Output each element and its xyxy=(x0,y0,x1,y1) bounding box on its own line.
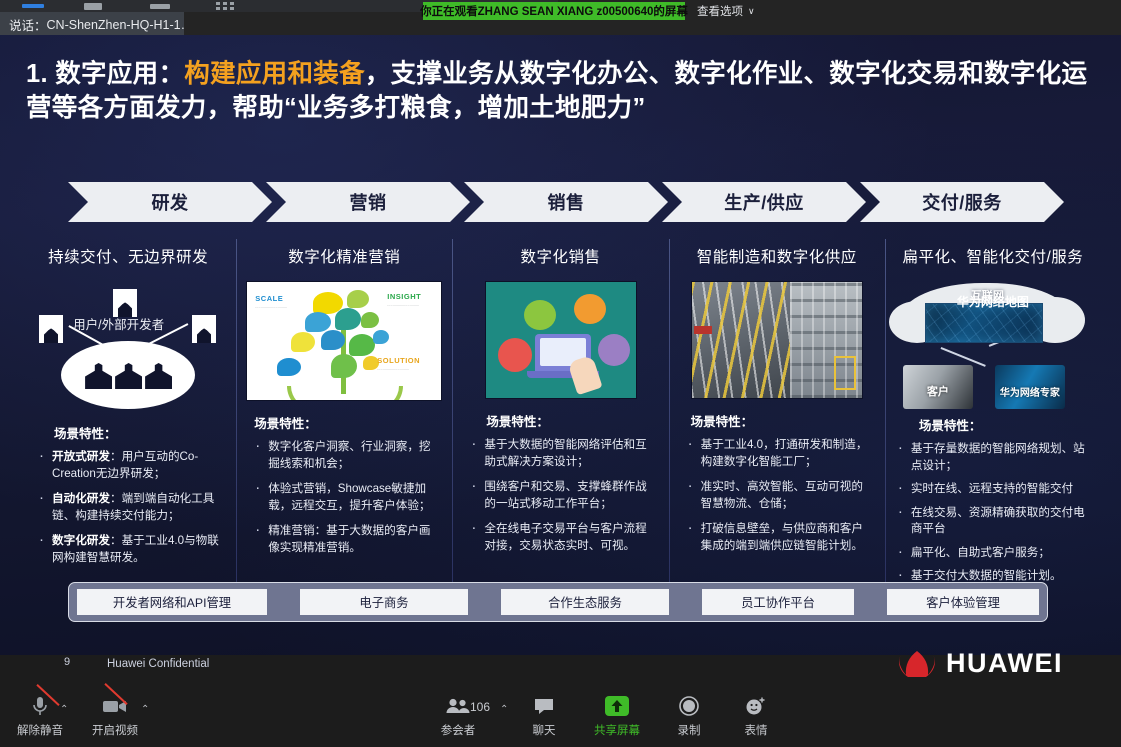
column-title-2: 数字化精准营销 xyxy=(242,245,446,267)
gift-bubble-icon xyxy=(598,334,630,366)
platform-bar: 开发者网络和API管理 电子商务 合作生态服务 员工协作平台 客户体验管理 xyxy=(68,582,1048,622)
list-item: 精准营销：基于大数据的客户画像实现精准营销。 xyxy=(252,523,440,556)
mute-button[interactable]: 解除静音 xyxy=(8,693,72,738)
infographic-label-scale: SCALE xyxy=(255,294,283,303)
people-icon xyxy=(445,693,471,719)
participants-count: 106 xyxy=(470,700,490,714)
start-video-button[interactable]: 开启视频 xyxy=(83,693,147,738)
columns-container: 持续交付、无边界研发 用户/外部开发者 场景特性： 开放式研发：用户互 xyxy=(20,235,1101,595)
list-item: 打破信息壁垒，与供应商和客户集成的端到端供应链智能计划。 xyxy=(685,521,873,554)
chevron-step-2: 营销 xyxy=(266,182,470,222)
column-5-artwork: 互联网 华为网络地图 客户 华为网络专家 xyxy=(895,281,1091,409)
person-icon xyxy=(113,289,137,317)
huawei-logo: HUAWEI xyxy=(895,648,1063,679)
column-title-4: 智能制造和数字化供应 xyxy=(675,245,879,267)
list-item: 基于存量数据的智能网络规划、站点设计； xyxy=(895,441,1089,474)
bullet-text-3-2: 围绕客户和交易、支撑蜂群作战的一站式移动工作平台； xyxy=(484,480,646,510)
infographic-label-solution: SOLUTION xyxy=(377,356,420,365)
column-delivery: 扁平化、智能化交付/服务 互联网 华为网络地图 客户 华为网络专家 场景特性： xyxy=(885,235,1101,595)
bullet-text-3-1: 基于大数据的智能网络评估和互助式解决方案设计； xyxy=(484,438,646,468)
list-item: 实时在线、远程支持的智能交付 xyxy=(895,481,1089,498)
shopping-cart-bubble-icon xyxy=(498,338,532,372)
meeting-window: 说话： CN-ShenZhen-HQ-H1-1… 你正在观看ZHANG SEAN… xyxy=(0,0,1121,747)
list-item: 基于工业4.0，打通研发和制造，构建数字化智能工厂； xyxy=(685,437,873,470)
share-screen-label: 共享屏幕 xyxy=(594,722,640,738)
tree-roots xyxy=(287,386,403,401)
microphone-muted-icon xyxy=(31,693,49,719)
connector-line xyxy=(941,347,986,366)
column-1-artwork: 用户/外部开发者 xyxy=(33,281,223,411)
bullet-text-2-2: 体验式营销，Showcase敏捷加载，远程交互，提升客户体验； xyxy=(268,482,430,512)
bullet-text-3-3: 全在线电子交易平台与客户流程对接，交易状态实时、可视。 xyxy=(484,522,646,552)
person-icon xyxy=(39,315,63,343)
column-sales: 数字化销售 场景特性： 基于大数据的智能网络评估和互助式解决方案设计； 围绕客户… xyxy=(452,235,668,595)
bullet-text-5-5: 基于交付大数据的智能计划。 xyxy=(911,569,1062,582)
column-title-3: 数字化销售 xyxy=(458,245,662,267)
expert-photo: 华为网络专家 xyxy=(995,365,1065,409)
scene-header-1: 场景特性： xyxy=(54,423,230,442)
column-title-1: 持续交付、无边界研发 xyxy=(26,245,230,267)
chevron-down-icon: ∨ xyxy=(748,6,755,17)
infographic-label-insight: INSIGHT xyxy=(387,292,421,301)
confidentiality-notice: Huawei Confidential xyxy=(107,658,209,670)
customer-photo: 客户 xyxy=(903,365,973,409)
bullet-text-5-2: 实时在线、远程支持的智能交付 xyxy=(911,482,1073,495)
platform-item-3: 合作生态服务 xyxy=(501,589,669,615)
list-item: 扁平化、自助式客户服务； xyxy=(895,545,1089,562)
shared-slide: 1. 数字应用：构建应用和装备，支撑业务从数字化办公、数字化作业、数字化交易和数… xyxy=(0,35,1121,655)
view-options-label: 查看选项 xyxy=(697,3,743,19)
factory-line-photo xyxy=(692,282,791,398)
column-manufacturing: 智能制造和数字化供应 场景特性： 基于工业4.0，打通研发和制造，构建数字化智能… xyxy=(669,235,885,595)
platform-item-1: 开发者网络和API管理 xyxy=(77,589,267,615)
share-screen-up-arrow-icon xyxy=(604,693,630,719)
expert-photo-label: 华为网络专家 xyxy=(995,384,1065,399)
list-item: 围绕客户和交易、支撑蜂群作战的一站式移动工作平台； xyxy=(468,479,656,512)
wallet-bubble-icon xyxy=(574,294,606,324)
mute-label: 解除静音 xyxy=(17,722,63,738)
column-2-artwork: SCALE INSIGHT SOLUTION ·················… xyxy=(246,281,442,401)
bullet-list-4: 基于工业4.0，打通研发和制造，构建数字化智能工厂； 准实时、高效智能、互动可视… xyxy=(675,437,879,554)
record-circle-icon xyxy=(679,693,699,719)
column-4-artwork xyxy=(691,281,863,399)
process-chevron-bar: 研发 营销 销售 生产/供应 交付/服务 xyxy=(68,182,1058,222)
bullet-text-4-2: 准实时、高效智能、互动可视的智慧物流、仓储； xyxy=(701,480,863,510)
bullet-bold-1-2: 自动化研发 xyxy=(52,492,110,505)
column-title-5: 扁平化、智能化交付/服务 xyxy=(891,245,1095,267)
reactions-button[interactable]: 表情 xyxy=(724,693,788,738)
taskbar-window-icon[interactable] xyxy=(84,3,102,10)
bullet-text-5-4: 扁平化、自助式客户服务； xyxy=(911,546,1050,559)
factory-sign xyxy=(694,326,712,334)
list-item: 全在线电子交易平台与客户流程对接，交易状态实时、可视。 xyxy=(468,521,656,554)
artwork-label-users-developers: 用户/外部开发者 xyxy=(73,314,164,333)
list-item: 自动化研发：端到端自动化工具链、构建持续交付能力； xyxy=(36,491,224,524)
share-screen-button[interactable]: 共享屏幕 xyxy=(585,693,649,738)
scene-header-5: 场景特性： xyxy=(919,415,1095,434)
taskbar-window-icon-2[interactable] xyxy=(150,4,170,9)
view-options-button[interactable]: 查看选项 ∨ xyxy=(697,2,755,20)
slide-title-prefix: 1. 数字应用： xyxy=(26,60,184,88)
reactions-label: 表情 xyxy=(745,722,768,738)
mute-options-caret-icon[interactable]: ⌃ xyxy=(60,704,68,715)
list-item: 体验式营销，Showcase敏捷加载，远程交互，提升客户体验； xyxy=(252,481,440,514)
participants-label: 参会者 xyxy=(441,722,476,738)
start-video-label: 开启视频 xyxy=(92,722,138,738)
bullet-text-4-3: 打破信息壁垒，与供应商和客户集成的端到端供应链智能计划。 xyxy=(701,522,863,552)
slide-page-number: 9 xyxy=(64,656,70,668)
bullet-list-2: 数字化客户洞察、行业洞察，挖掘线索和机会； 体验式营销，Showcase敏捷加载… xyxy=(242,439,446,556)
active-speaker-label: 说话： xyxy=(9,15,47,34)
bullet-list-5: 基于存量数据的智能网络规划、站点设计； 实时在线、远程支持的智能交付 在线交易、… xyxy=(891,441,1095,585)
bullet-list-1: 开放式研发：用户互动的Co-Creation无边界研发； 自动化研发：端到端自动… xyxy=(26,449,230,566)
scene-header-3: 场景特性： xyxy=(486,411,662,430)
participants-caret-icon[interactable]: ⌃ xyxy=(500,704,508,715)
hand-pointer-icon xyxy=(567,355,602,395)
platform-item-2: 电子商务 xyxy=(300,589,468,615)
huawei-flower-icon xyxy=(895,649,939,679)
network-map-label: 华为网络地图 xyxy=(895,293,1091,310)
meeting-toolbar: 解除静音 ⌃ 开启视频 ⌃ 参会者 106 ⌃ 聊天 xyxy=(0,690,1121,747)
list-item: 开放式研发：用户互动的Co-Creation无边界研发； xyxy=(36,449,224,482)
chevron-step-5: 交付/服务 xyxy=(860,182,1064,222)
video-options-caret-icon[interactable]: ⌃ xyxy=(141,704,149,715)
list-item: 数字化研发：基于工业4.0与物联网构建智慧研发。 xyxy=(36,533,224,566)
camera-off-icon xyxy=(102,693,128,719)
chat-button[interactable]: 聊天 xyxy=(512,693,576,738)
bullet-bold-1-3: 数字化研发 xyxy=(52,534,110,547)
scene-header-4: 场景特性： xyxy=(691,411,879,430)
bullet-bold-1-1: 开放式研发 xyxy=(52,450,110,463)
bullet-text-5-3: 在线交易、资源精确获取的交付电商平台 xyxy=(911,506,1085,536)
money-bubble-icon xyxy=(524,300,556,330)
taskbar-active-app-icon[interactable] xyxy=(22,4,44,8)
platform-item-4: 员工协作平台 xyxy=(702,589,854,615)
record-label: 录制 xyxy=(678,722,701,738)
bullet-text-4-1: 基于工业4.0，打通研发和制造，构建数字化智能工厂； xyxy=(701,438,868,468)
column-3-artwork xyxy=(485,281,637,399)
list-item: 在线交易、资源精确获取的交付电商平台 xyxy=(895,505,1089,538)
slide-title-highlight: 构建应用和装备 xyxy=(184,60,365,88)
factory-railing xyxy=(834,356,856,390)
bullet-text-2-1: 数字化客户洞察、行业洞察，挖掘线索和机会； xyxy=(268,440,430,470)
taskbar-grid-icon[interactable] xyxy=(216,2,236,11)
active-speaker-name: CN-ShenZhen-HQ-H1-1… xyxy=(47,18,184,32)
record-button[interactable]: 录制 xyxy=(657,693,721,738)
person-icon xyxy=(192,315,216,343)
chat-bubble-icon xyxy=(533,693,555,719)
column-rnd: 持续交付、无边界研发 用户/外部开发者 场景特性： 开放式研发：用户互 xyxy=(20,235,236,595)
screen-share-banner: 你正在观看ZHANG SEAN XIANG z00500640的屏幕 xyxy=(423,2,685,20)
list-item: 准实时、高效智能、互动可视的智慧物流、仓储； xyxy=(685,479,873,512)
scene-header-2: 场景特性： xyxy=(254,413,446,432)
list-item: 基于大数据的智能网络评估和互助式解决方案设计； xyxy=(468,437,656,470)
huawei-wordmark: HUAWEI xyxy=(946,648,1063,679)
chevron-step-3: 销售 xyxy=(464,182,668,222)
top-strip: 说话： CN-ShenZhen-HQ-H1-1… 你正在观看ZHANG SEAN… xyxy=(0,0,1121,35)
chat-label: 聊天 xyxy=(533,722,556,738)
list-item: 数字化客户洞察、行业洞察，挖掘线索和机会； xyxy=(252,439,440,472)
slide-title: 1. 数字应用：构建应用和装备，支撑业务从数字化办公、数字化作业、数字化交易和数… xyxy=(26,57,1101,125)
smiley-plus-icon xyxy=(745,693,767,719)
bullet-text-2-3: 精准营销：基于大数据的客户画像实现精准营销。 xyxy=(268,524,430,554)
column-marketing: 数字化精准营销 SCALE xyxy=(236,235,452,595)
customer-photo-label: 客户 xyxy=(903,383,973,399)
active-speaker-pill: 说话： CN-ShenZhen-HQ-H1-1… xyxy=(0,12,184,37)
bullet-list-3: 基于大数据的智能网络评估和互助式解决方案设计； 围绕客户和交易、支撑蜂群作战的一… xyxy=(458,437,662,554)
chevron-step-4: 生产/供应 xyxy=(662,182,866,222)
chevron-step-1: 研发 xyxy=(68,182,272,222)
platform-item-5: 客户体验管理 xyxy=(887,589,1039,615)
bullet-text-5-1: 基于存量数据的智能网络规划、站点设计； xyxy=(911,442,1085,472)
